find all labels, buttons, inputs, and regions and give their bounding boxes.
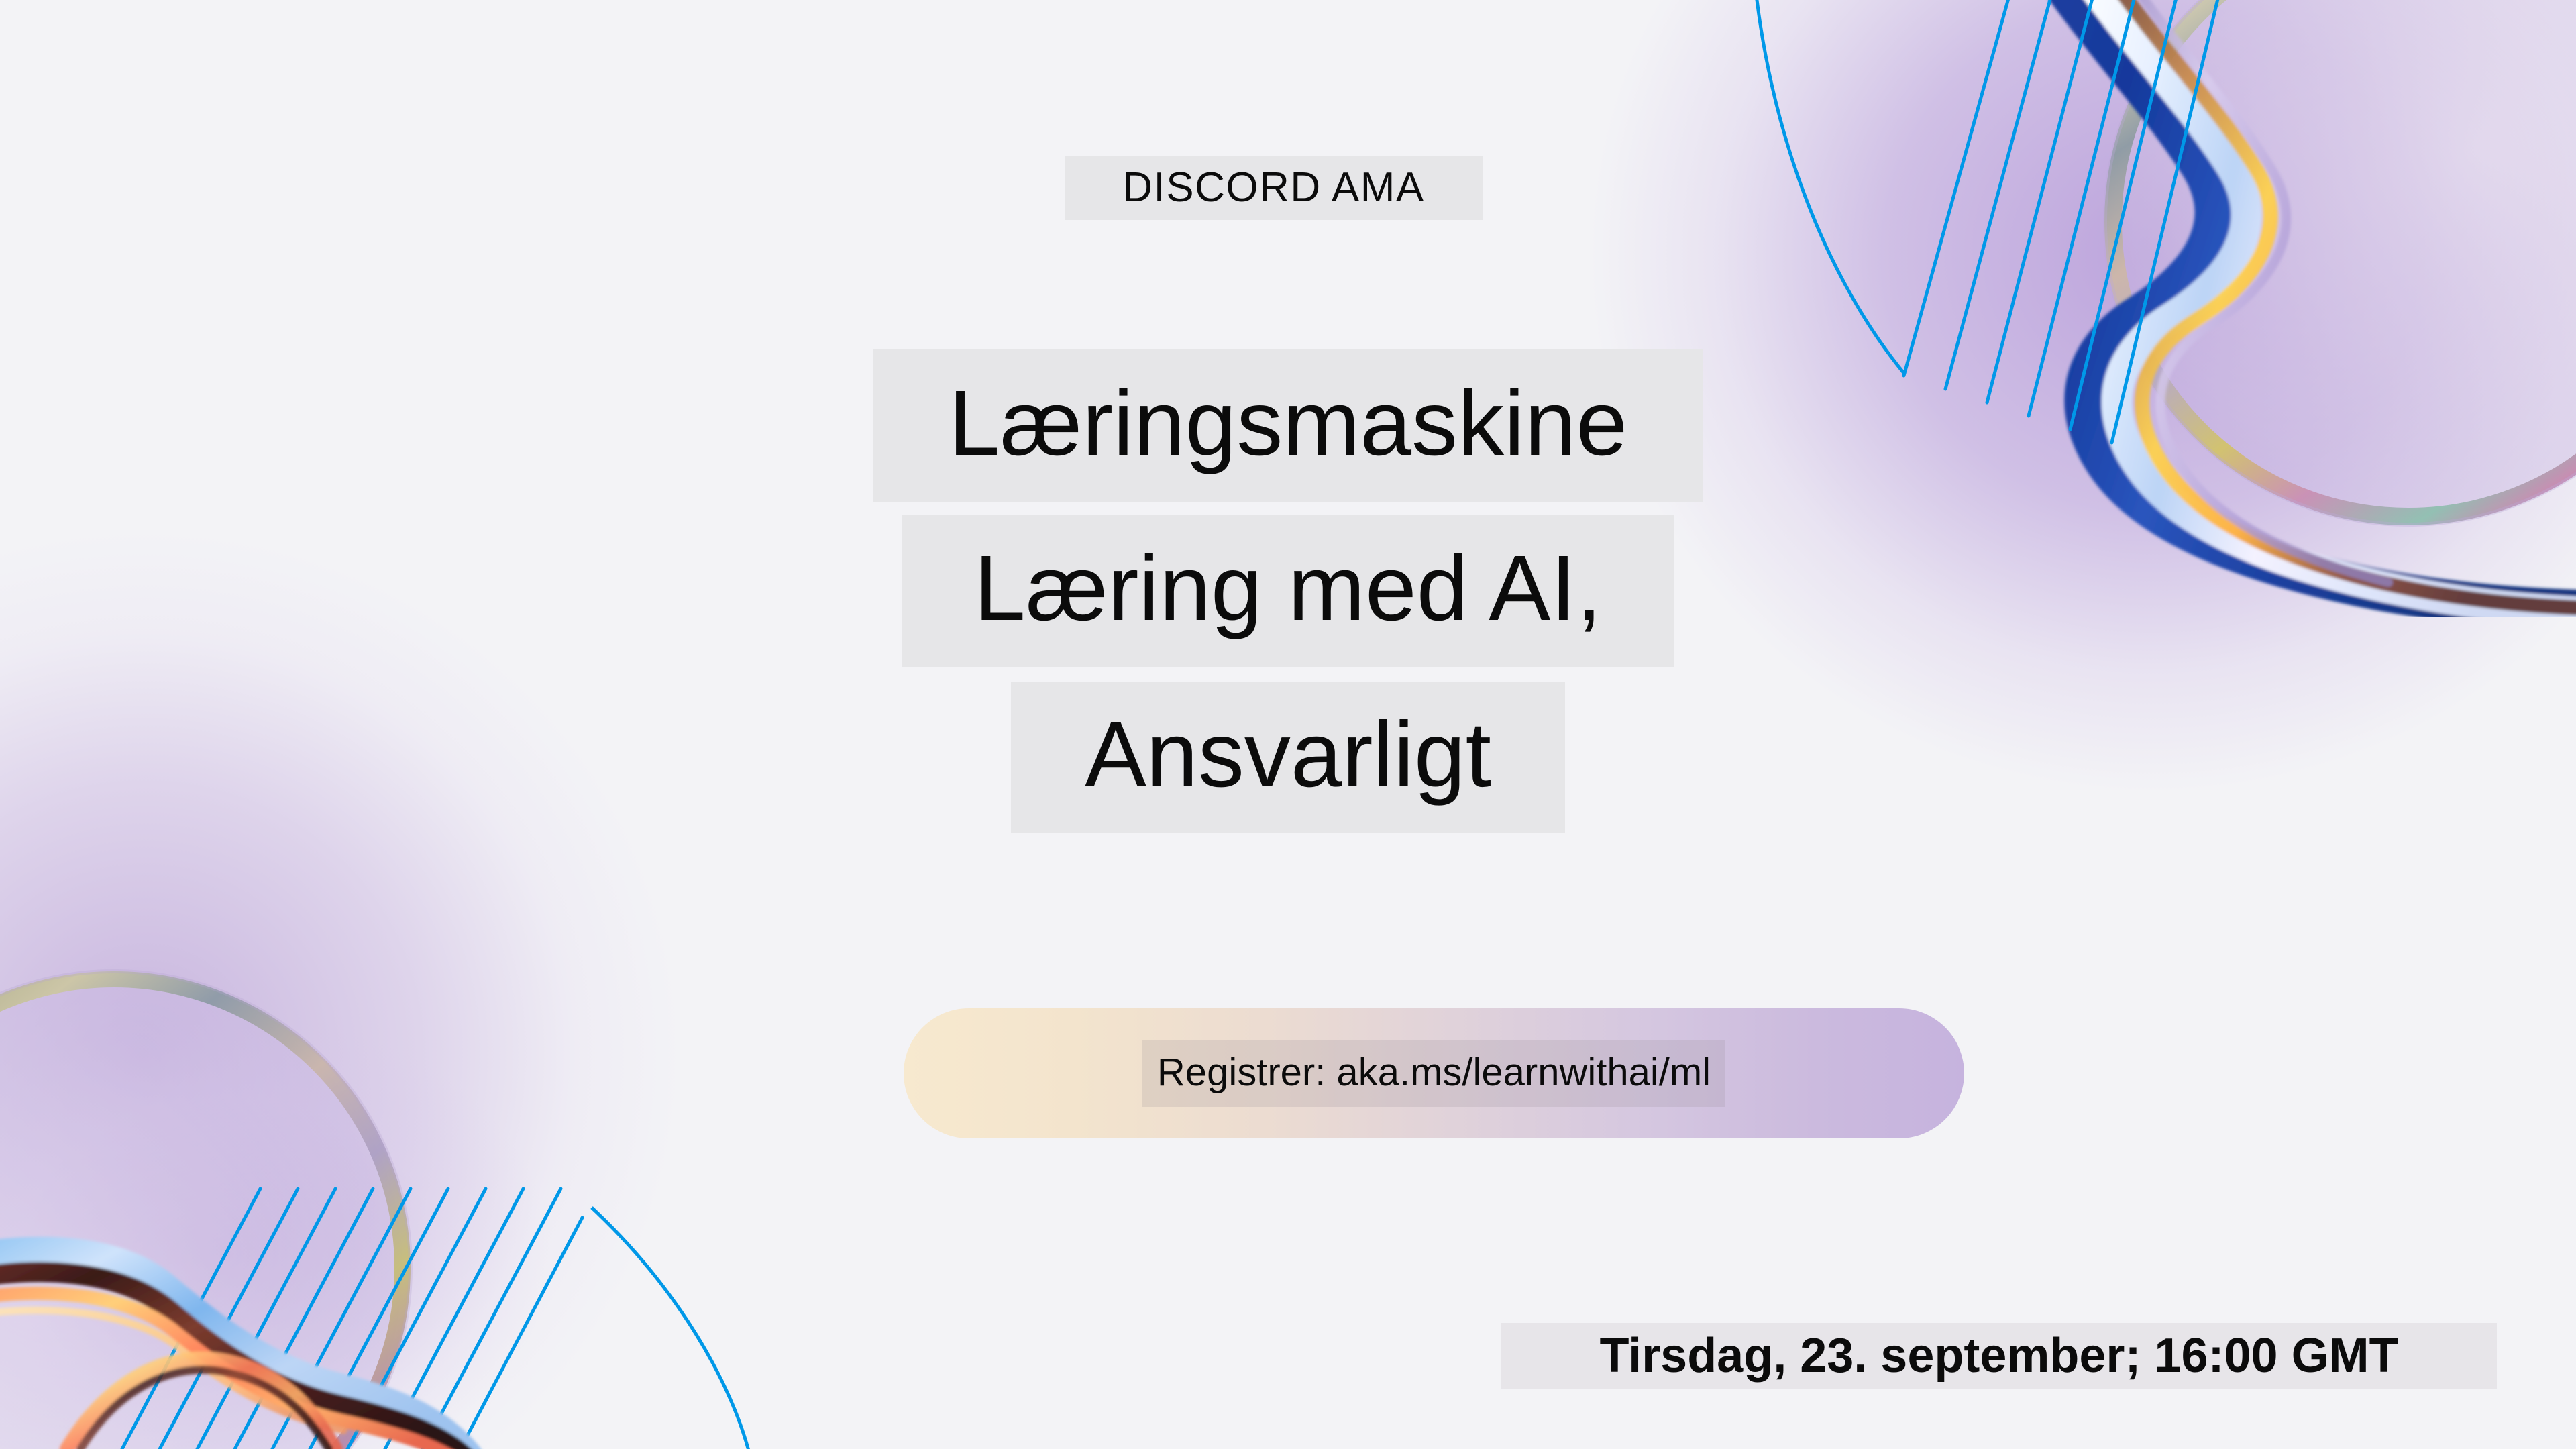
eyebrow-badge: DISCORD AMA [1065, 156, 1483, 220]
page-title: Læringsmaskine Læring med AI, Ansvarligt [0, 349, 2576, 833]
register-button-label: Registrer: aka.ms/learnwithai/ml [1142, 1040, 1725, 1107]
event-datetime: Tirsdag, 23. september; 16:00 GMT [1501, 1323, 2497, 1389]
register-button[interactable]: Registrer: aka.ms/learnwithai/ml [904, 1008, 1964, 1138]
title-line-2: Læring med AI, [0, 515, 2576, 667]
title-line-1-text: Læringsmaskine [873, 349, 1703, 502]
title-line-3: Ansvarligt [0, 682, 2576, 833]
eyebrow-label: DISCORD AMA [1122, 167, 1425, 209]
slide-canvas: DISCORD AMA Læringsmaskine Læring med AI… [0, 0, 2576, 1449]
slide-content: DISCORD AMA Læringsmaskine Læring med AI… [0, 0, 2576, 1449]
title-line-2-text: Læring med AI, [902, 515, 1674, 667]
event-datetime-label: Tirsdag, 23. september; 16:00 GMT [1599, 1332, 2398, 1380]
title-line-3-text: Ansvarligt [1011, 682, 1565, 833]
title-line-1: Læringsmaskine [0, 349, 2576, 502]
